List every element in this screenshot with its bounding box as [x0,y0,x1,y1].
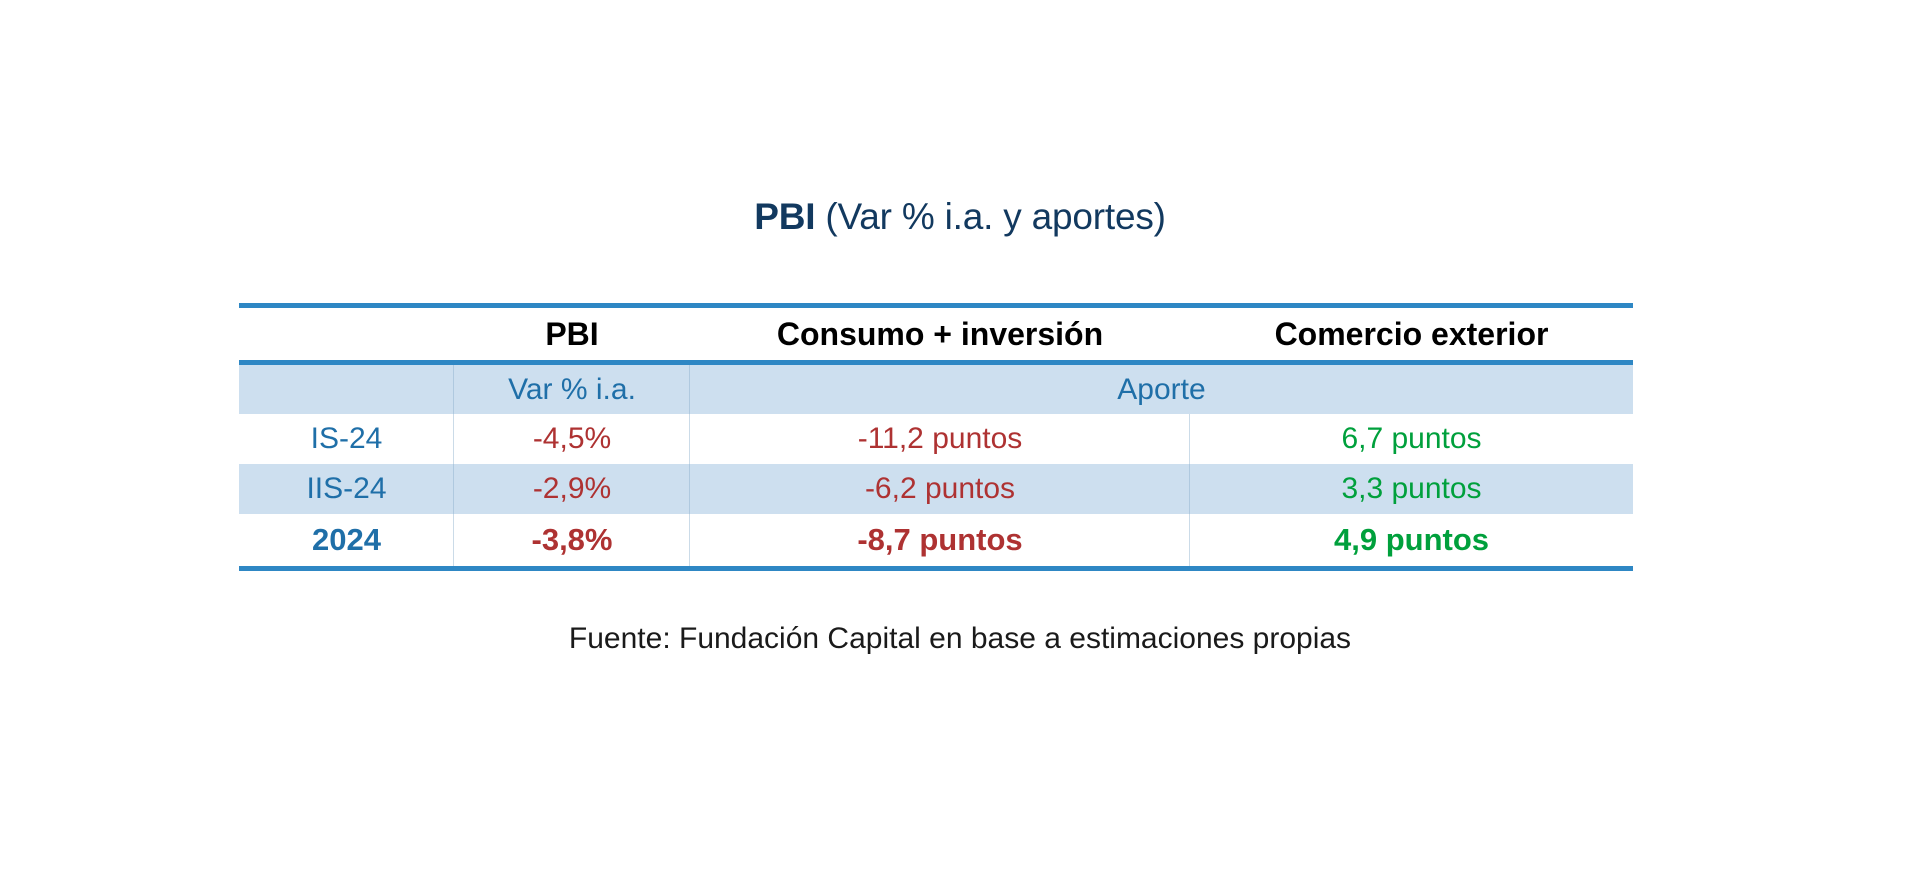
cell-iis24-pbi: -2,9% [454,464,690,514]
cell-2024-consumo-inversion: -8,7 puntos [690,514,1190,569]
row-label-2024: 2024 [239,514,454,569]
subheader-cell-aporte: Aporte [690,363,1633,415]
table-row: IIS-24 -2,9% -6,2 puntos 3,3 puntos [239,464,1633,514]
cell-2024-pbi: -3,8% [454,514,690,569]
chart-title: PBI (Var % i.a. y aportes) [0,196,1920,238]
header-cell-comercio-exterior: Comercio exterior [1190,306,1633,363]
cell-2024-comercio-exterior: 4,9 puntos [1190,514,1633,569]
cell-iis24-consumo-inversion: -6,2 puntos [690,464,1190,514]
subheader-cell-var-ia: Var % i.a. [454,363,690,415]
chart-title-rest: (Var % i.a. y aportes) [815,196,1165,237]
cell-iis24-comercio-exterior: 3,3 puntos [1190,464,1633,514]
row-label-iis24: IIS-24 [239,464,454,514]
row-label-is24: IS-24 [239,414,454,464]
cell-is24-pbi: -4,5% [454,414,690,464]
source-note: Fuente: Fundación Capital en base a esti… [0,622,1920,656]
table-row: IS-24 -4,5% -11,2 puntos 6,7 puntos [239,414,1633,464]
header-cell-corner [239,306,454,363]
header-cell-pbi: PBI [454,306,690,363]
header-cell-consumo-inversion: Consumo + inversión [690,306,1190,363]
cell-is24-consumo-inversion: -11,2 puntos [690,414,1190,464]
cell-is24-comercio-exterior: 6,7 puntos [1190,414,1633,464]
chart-title-strong: PBI [754,196,815,237]
pbi-table: PBI Consumo + inversión Comercio exterio… [239,303,1633,571]
table-header-row: PBI Consumo + inversión Comercio exterio… [239,306,1633,363]
pbi-table-container: PBI Consumo + inversión Comercio exterio… [239,303,1633,571]
table-row-total: 2024 -3,8% -8,7 puntos 4,9 puntos [239,514,1633,569]
slide-canvas: PBI (Var % i.a. y aportes) PBI Consumo +… [0,0,1920,882]
table-subheader-row: Var % i.a. Aporte [239,363,1633,415]
subheader-cell-corner [239,363,454,415]
